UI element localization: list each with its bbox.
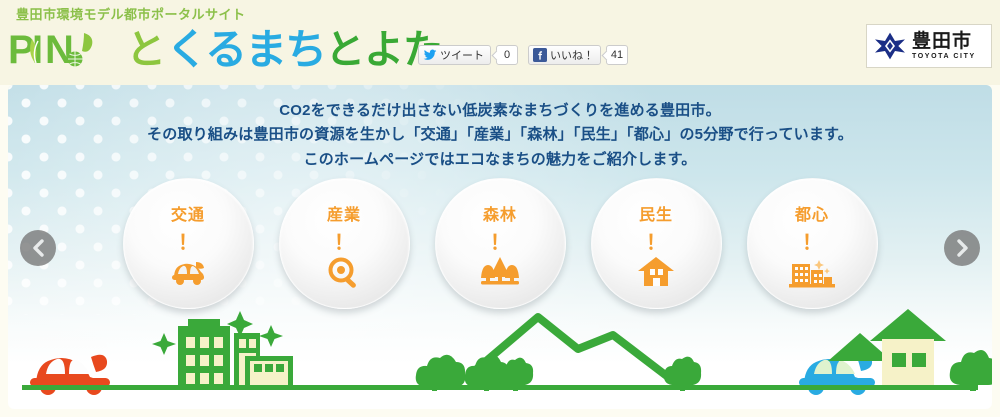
city-name-en: TOYOTA CITY [912,53,976,60]
facebook-like-button[interactable]: いいね！ [528,45,601,65]
exclamation-mark: ！ [178,233,198,253]
category-circle-industry[interactable]: 産業 ！ [279,178,410,309]
hero-lead-line-3: このホームページではエコなまちの魅力をご紹介します。 [8,148,992,172]
site-header: 豊田市環境モデル都市ポータルサイト P I N と くるまち とよた ツイー [0,0,1000,85]
svg-text:N: N [45,28,74,72]
hero-lead-text: CO2をできるだけ出さない低炭素なまちづくりを進める豊田市。 その取り組みは豊田… [8,99,992,172]
forest-trees-icon [477,256,523,286]
eco-town-illustration [8,301,992,409]
exclamation-mark: ！ [490,233,510,253]
toyota-city-logo[interactable]: 豊田市 TOYOTA CITY [866,24,992,68]
category-circle-list: 交通 ！ 産業 ！ [8,178,992,310]
category-circle-urban[interactable]: 都心 ！ [747,178,878,309]
ground-line [22,385,978,390]
exclamation-mark: ！ [646,233,666,253]
carousel-prev-button[interactable] [20,230,56,266]
category-circle-residential[interactable]: 民生 ！ [591,178,722,309]
exclamation-mark: ！ [334,233,354,253]
category-label: 都心 [795,201,829,225]
green-buildings-illustration [152,311,293,390]
house-icon [637,256,675,288]
category-circle-traffic[interactable]: 交通 ！ [123,178,254,309]
city-name-jp: 豊田市 [912,32,976,51]
city-buildings-icon [788,256,836,288]
car-icon [165,256,211,286]
scenery-svg [8,301,992,409]
hero-lead-line-1: CO2をできるだけ出さない低炭素なまちづくりを進める豊田市。 [8,99,992,123]
city-logo-text: 豊田市 TOYOTA CITY [912,32,976,60]
chevron-left-icon [31,239,45,257]
magnifier-icon [324,256,364,288]
twitter-bird-icon [423,48,437,62]
page-root: 豊田市環境モデル都市ポータルサイト P I N と くるまち とよた ツイー [0,0,1000,417]
exclamation-mark: ！ [802,233,822,253]
facebook-like-count[interactable]: 41 [606,45,628,65]
pin-logo-icon: P I N [8,25,126,75]
toyota-city-star-emblem [873,31,907,61]
tweet-button-label: ツイート [440,47,484,63]
twitter-share-widget[interactable]: ツイート 0 [418,45,518,65]
site-logo[interactable]: P I N と くるまち とよた [8,22,442,78]
category-label: 森林 [483,201,517,225]
category-label: 産業 [327,201,361,225]
logo-text-kurumachi: くるまち [166,29,325,71]
logo-text-to: と [126,30,166,70]
tweet-button[interactable]: ツイート [418,45,491,65]
facebook-f-icon [533,48,547,62]
facebook-like-widget[interactable]: いいね！ 41 [528,45,628,65]
carousel-next-button[interactable] [944,230,980,266]
hero-lead-line-2: その取り組みは豊田市の資源を生かし「交通」「産業」「森林」「民生」「都心」の5分… [8,123,992,147]
chevron-right-icon [955,239,969,257]
facebook-like-label: いいね！ [550,47,594,63]
tweet-count[interactable]: 0 [496,45,518,65]
category-label: 交通 [171,201,205,225]
site-tagline: 豊田市環境モデル都市ポータルサイト [16,4,246,23]
category-circle-forest[interactable]: 森林 ！ [435,178,566,309]
hero-banner: CO2をできるだけ出さない低炭素なまちづくりを進める豊田市。 その取り組みは豊田… [8,85,992,409]
category-label: 民生 [639,201,673,225]
